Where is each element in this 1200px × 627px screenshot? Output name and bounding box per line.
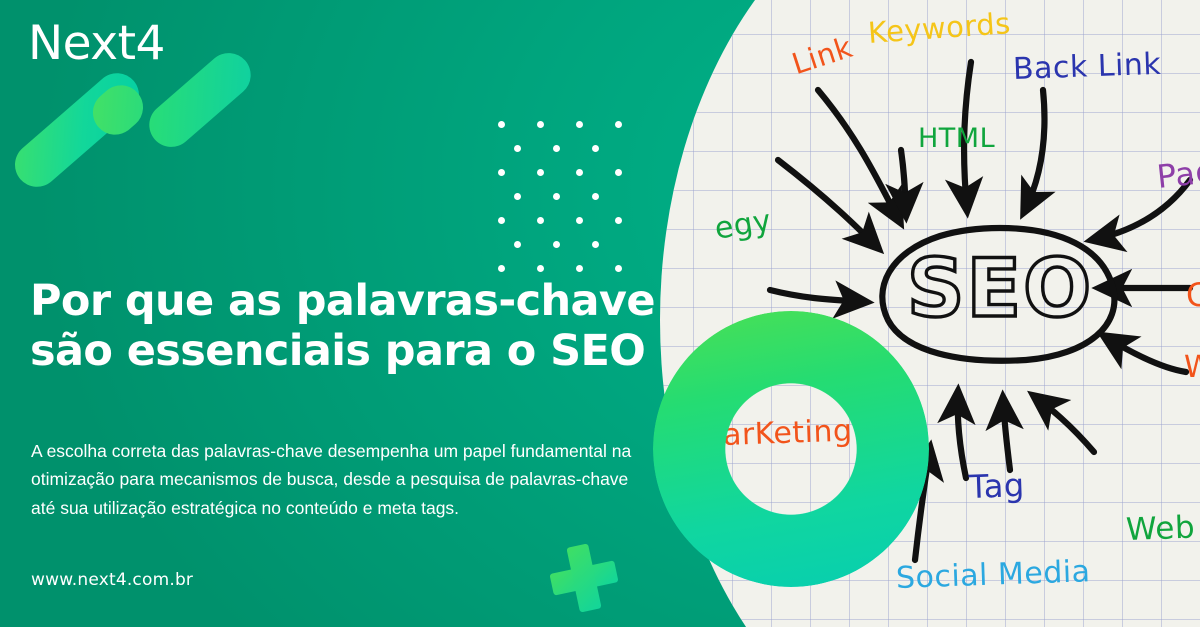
- hero-description: A escolha correta das palavras-chave des…: [31, 437, 656, 522]
- website-url[interactable]: www.next4.com.br: [31, 570, 193, 590]
- mindmap-node-tag: Tag: [968, 466, 1025, 506]
- mindmap-node-back-link: Back Link: [1012, 47, 1161, 87]
- dot: [553, 193, 560, 200]
- dot: [514, 145, 521, 152]
- green-plus-shape: [545, 539, 623, 617]
- dot: [498, 121, 505, 128]
- dot: [537, 121, 544, 128]
- dot: [615, 265, 622, 272]
- dot: [592, 241, 599, 248]
- mindmap-node-social-media: Social Media: [895, 554, 1091, 596]
- dot: [537, 217, 544, 224]
- dot: [576, 169, 583, 176]
- dot: [576, 217, 583, 224]
- brand-logo[interactable]: Next4: [28, 16, 165, 71]
- dot: [498, 217, 505, 224]
- mindmap-node-web-d: Web D: [1125, 508, 1200, 548]
- dot: [514, 193, 521, 200]
- dot: [592, 145, 599, 152]
- dot: [514, 241, 521, 248]
- dot: [498, 169, 505, 176]
- svg-text:SEO: SEO: [907, 242, 1093, 335]
- dot: [615, 121, 622, 128]
- dot: [537, 265, 544, 272]
- dot: [615, 217, 622, 224]
- dot: [498, 265, 505, 272]
- mindmap-node-pag: Pag: [1155, 152, 1200, 196]
- dot: [537, 169, 544, 176]
- dot: [576, 121, 583, 128]
- page-title: Por que as palavras-chave são essenciais…: [30, 276, 720, 377]
- dot: [592, 193, 599, 200]
- dot: [553, 241, 560, 248]
- dot: [615, 169, 622, 176]
- mindmap-node-html: HTML: [918, 123, 995, 154]
- dot-grid-pattern: [498, 112, 622, 280]
- dot: [576, 265, 583, 272]
- mindmap-node-w: W: [1184, 350, 1200, 385]
- poster-canvas: SEO KeywordsBack LinkHTMLLinkegyPagCWarK…: [0, 0, 1200, 627]
- mindmap-node-c: C: [1186, 276, 1200, 314]
- dot: [553, 145, 560, 152]
